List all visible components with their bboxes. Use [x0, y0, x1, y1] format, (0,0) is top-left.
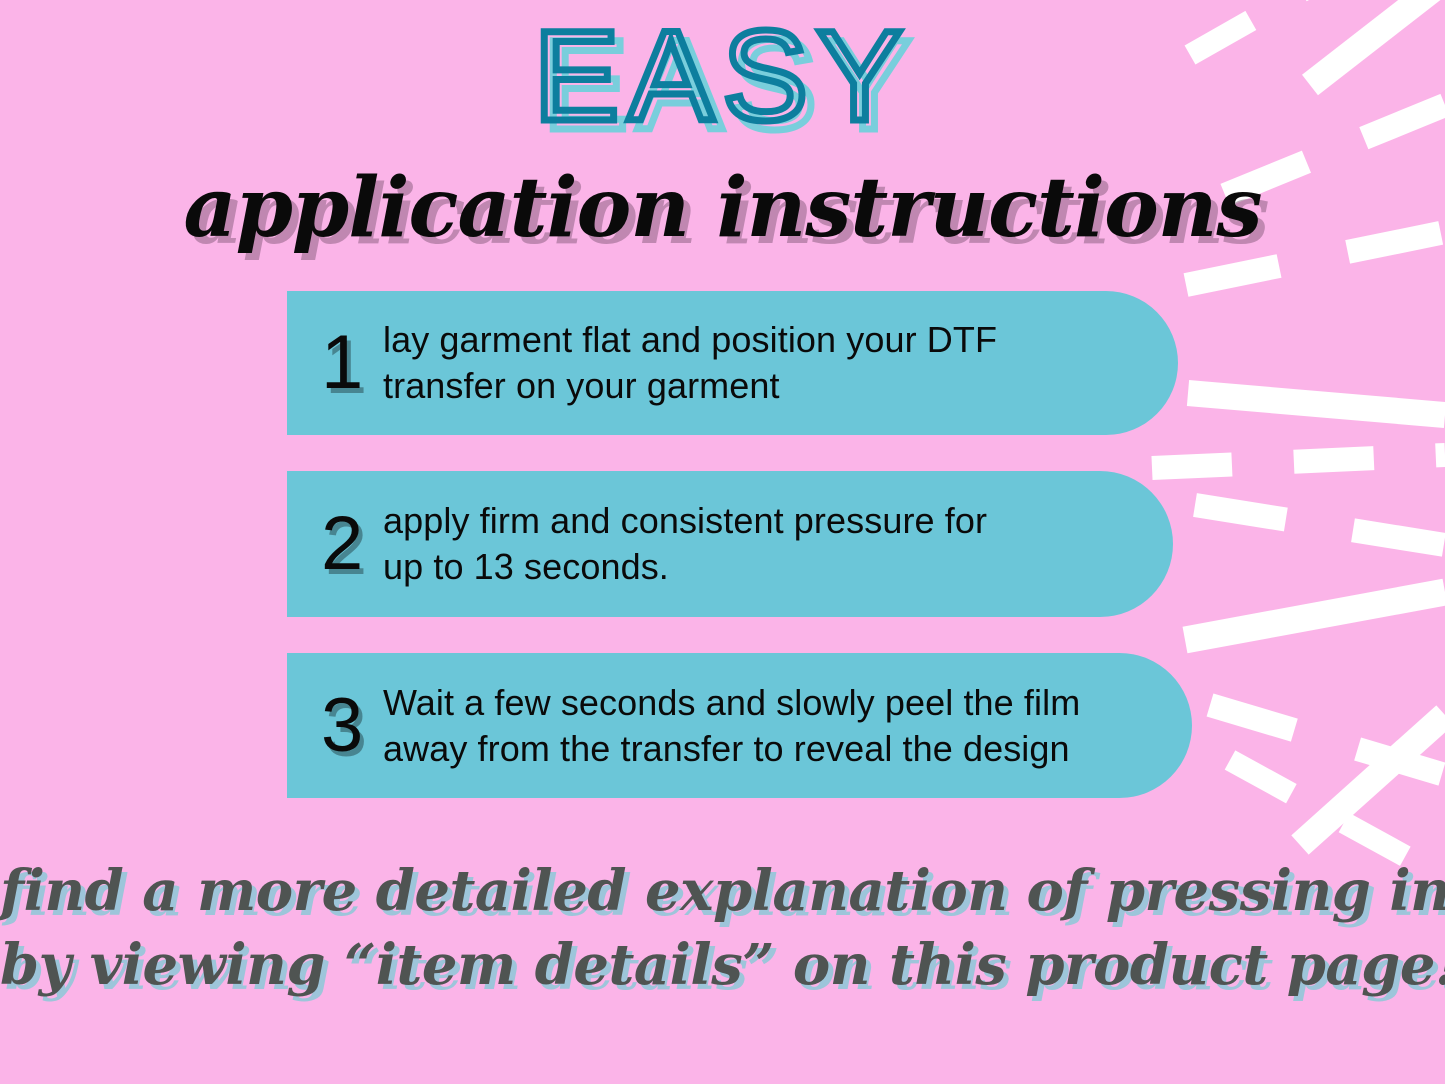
step-text-1-line-1: lay garment flat and position your DTF — [383, 317, 1132, 363]
step-text-3-line-2: away from the transfer to reveal the des… — [383, 726, 1146, 772]
step-text-3: Wait a few seconds and slowly peel the f… — [383, 680, 1146, 771]
poster-canvas: EASY EASY application instructions 1 lay… — [0, 0, 1445, 1084]
step-number-3: 3 — [321, 688, 383, 764]
step-text-1-line-2: transfer on your garment — [383, 363, 1132, 409]
step-number-1: 1 — [321, 325, 383, 401]
instruction-step-2: 2 apply firm and consistent pressure for… — [287, 471, 1173, 617]
step-number-2: 2 — [321, 506, 383, 582]
footer-line-1: find a more detailed explanation of pres… — [0, 855, 1445, 929]
step-text-2-line-2: up to 13 seconds. — [383, 544, 1127, 590]
instruction-steps-list: 1 lay garment flat and position your DTF… — [287, 291, 1192, 798]
step-text-3-line-1: Wait a few seconds and slowly peel the f… — [383, 680, 1146, 726]
instruction-step-1: 1 lay garment flat and position your DTF… — [287, 291, 1178, 435]
headline-text: EASY — [528, 10, 918, 144]
step-text-1: lay garment flat and position your DTF t… — [383, 317, 1132, 408]
step-text-2-line-1: apply firm and consistent pressure for — [383, 498, 1127, 544]
step-text-2: apply firm and consistent pressure for u… — [383, 498, 1127, 589]
footer-note: find a more detailed explanation of pres… — [0, 855, 1445, 1003]
footer-line-2: by viewing “item details” on this produc… — [0, 929, 1445, 1003]
instruction-step-3: 3 Wait a few seconds and slowly peel the… — [287, 653, 1192, 798]
page-title: EASY — [0, 10, 1445, 144]
script-subtitle: application instructions — [0, 160, 1445, 256]
